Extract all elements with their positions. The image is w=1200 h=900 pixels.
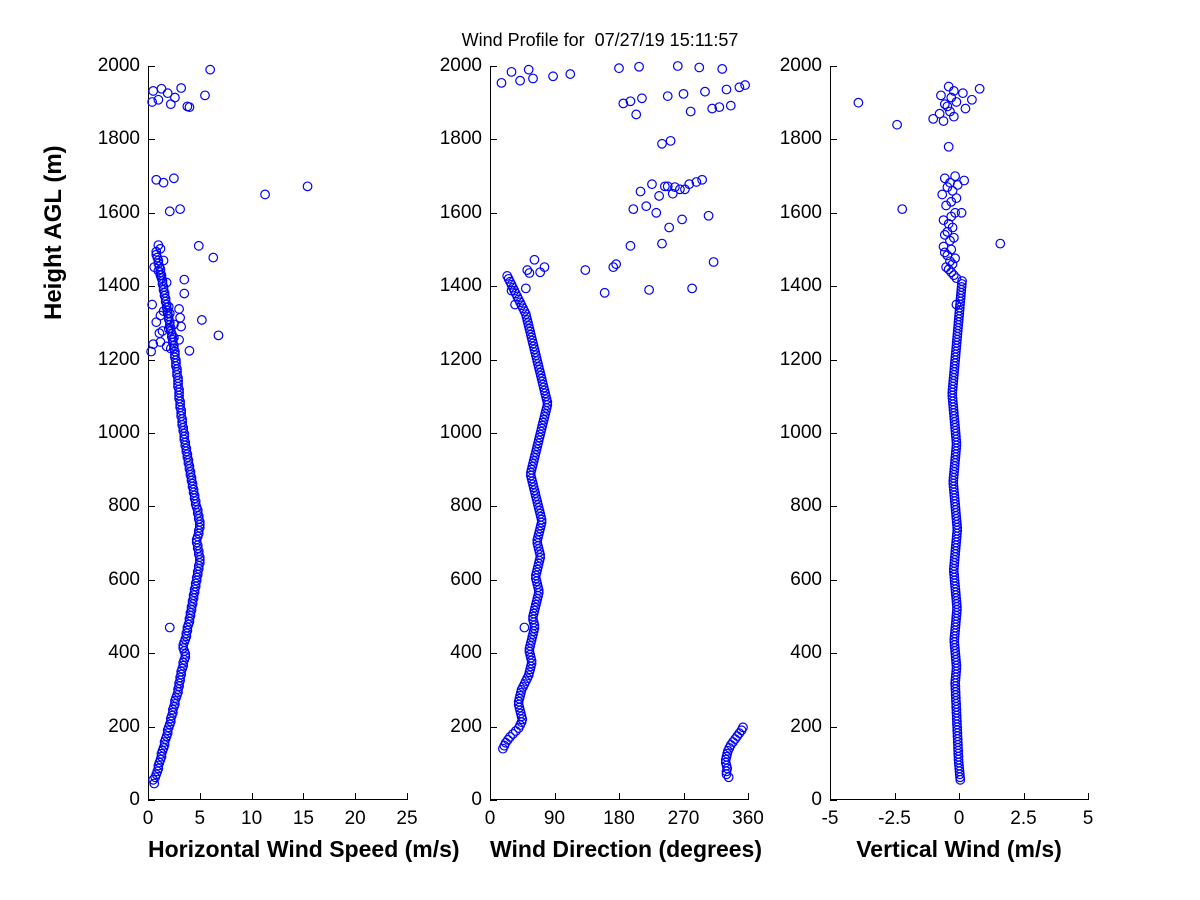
data-point-marker (516, 76, 525, 85)
data-point-marker (665, 223, 674, 232)
x-tick-label: 2.5 (1010, 808, 1036, 830)
y-tick-label: 1200 (440, 349, 482, 371)
data-point-marker (166, 100, 175, 109)
scatter-series-wind-direction (490, 66, 748, 800)
data-point-marker (520, 623, 529, 632)
data-point-marker (937, 91, 946, 100)
data-point-marker (157, 84, 166, 93)
data-point-marker (718, 65, 727, 74)
x-tick-label: 5 (1083, 808, 1094, 830)
data-point-marker (960, 176, 969, 185)
data-point-marker (206, 65, 215, 74)
x-axis-label-wind-direction: Wind Direction (degrees) (490, 836, 748, 863)
y-tick-label: 600 (108, 569, 140, 591)
data-point-marker (968, 95, 977, 104)
data-point-marker (194, 242, 203, 251)
data-point-marker (679, 90, 688, 99)
y-tick-label: 800 (450, 495, 482, 517)
x-tick-label: 0 (485, 808, 496, 830)
data-point-marker (549, 72, 558, 81)
y-axis-label: Height AGL (m) (40, 60, 68, 320)
data-point-marker (522, 284, 531, 293)
panel-horizontal-wind-speed: 0200400600800100012001400160018002000051… (148, 66, 407, 800)
data-point-marker (941, 174, 950, 183)
data-point-marker (733, 732, 742, 741)
data-point-marker (935, 109, 944, 118)
y-tick-label: 400 (790, 642, 822, 664)
y-tick-mark (830, 800, 837, 801)
data-point-marker (961, 104, 970, 113)
data-point-marker (943, 102, 952, 111)
y-tick-label: 1600 (440, 202, 482, 224)
data-point-marker (165, 207, 174, 216)
y-tick-label: 1800 (98, 128, 140, 150)
data-point-marker (198, 316, 207, 325)
x-tick-label: 25 (396, 808, 417, 830)
data-point-marker (165, 623, 174, 632)
data-point-marker (686, 107, 695, 116)
data-point-marker (975, 84, 984, 93)
data-point-marker (658, 140, 667, 149)
data-point-marker (741, 81, 750, 90)
y-tick-label: 1200 (98, 349, 140, 371)
data-point-marker (497, 79, 506, 88)
data-point-marker (648, 180, 657, 189)
y-tick-mark (490, 800, 497, 801)
y-tick-label: 1600 (98, 202, 140, 224)
y-tick-label: 0 (471, 789, 482, 811)
panel-wind-direction: 0200400600800100012001400160018002000090… (490, 66, 748, 800)
y-tick-label: 800 (108, 495, 140, 517)
data-point-marker (655, 192, 664, 201)
x-tick-label: 90 (544, 808, 565, 830)
data-point-marker (529, 74, 538, 83)
y-tick-label: 400 (108, 642, 140, 664)
data-point-marker (201, 91, 210, 100)
x-tick-label: 10 (241, 808, 262, 830)
y-tick-label: 2000 (98, 55, 140, 77)
data-point-marker (303, 182, 312, 191)
x-tick-label: 0 (954, 808, 965, 830)
y-tick-label: 1800 (780, 128, 822, 150)
data-point-marker (673, 62, 682, 71)
data-point-marker (615, 64, 624, 73)
data-point-marker (175, 305, 184, 314)
data-point-marker (148, 300, 157, 309)
y-tick-label: 1200 (780, 349, 822, 371)
y-tick-label: 1000 (780, 422, 822, 444)
data-point-marker (951, 172, 960, 181)
data-point-marker (523, 266, 532, 275)
data-point-marker (735, 83, 744, 92)
data-point-marker (695, 63, 704, 72)
x-axis-label-vertical-wind: Vertical Wind (m/s) (830, 836, 1088, 863)
data-point-marker (666, 137, 675, 146)
data-point-marker (704, 211, 713, 220)
data-point-marker (180, 275, 189, 284)
data-point-marker (176, 205, 185, 214)
data-point-marker (645, 286, 654, 295)
data-point-marker (185, 346, 194, 355)
y-tick-label: 400 (450, 642, 482, 664)
x-tick-label: 0 (143, 808, 154, 830)
x-tick-label: 5 (195, 808, 206, 830)
data-point-marker (731, 735, 740, 744)
data-point-marker (261, 190, 270, 199)
data-point-marker (530, 255, 539, 264)
data-point-marker (854, 98, 863, 107)
data-point-marker (941, 100, 950, 109)
y-tick-label: 1800 (440, 128, 482, 150)
scatter-series-horizontal-wind-speed (148, 66, 407, 800)
data-point-marker (636, 187, 645, 196)
data-point-marker (642, 202, 651, 211)
y-tick-label: 200 (108, 716, 140, 738)
data-point-marker (722, 85, 731, 94)
data-point-marker (152, 175, 161, 184)
data-point-marker (701, 87, 710, 96)
data-point-marker (638, 94, 647, 103)
y-tick-label: 1400 (98, 275, 140, 297)
data-point-marker (635, 62, 644, 71)
data-point-marker (626, 242, 635, 251)
y-tick-label: 1000 (98, 422, 140, 444)
data-point-marker (629, 205, 638, 214)
data-point-marker (525, 269, 534, 278)
data-point-marker (893, 120, 902, 129)
y-tick-label: 1000 (440, 422, 482, 444)
x-tick-label: -2.5 (878, 808, 911, 830)
y-tick-label: 1400 (780, 275, 822, 297)
data-point-marker (652, 209, 661, 218)
data-point-marker (944, 142, 953, 151)
data-point-marker (600, 289, 609, 298)
x-tick-label: 20 (345, 808, 366, 830)
data-point-marker (658, 239, 667, 248)
data-point-marker (957, 209, 966, 218)
data-point-marker (727, 101, 736, 110)
y-tick-label: 200 (450, 716, 482, 738)
data-point-marker (149, 87, 158, 96)
data-point-marker (959, 89, 968, 98)
x-tick-label: 180 (603, 808, 635, 830)
y-tick-label: 2000 (780, 55, 822, 77)
y-tick-label: 0 (811, 789, 822, 811)
y-tick-label: 0 (129, 789, 140, 811)
data-point-marker (688, 284, 697, 293)
data-point-marker (566, 70, 575, 79)
y-tick-label: 200 (790, 716, 822, 738)
y-tick-label: 600 (450, 569, 482, 591)
panel-vertical-wind: 0200400600800100012001400160018002000-5-… (830, 66, 1088, 800)
data-point-marker (724, 773, 733, 782)
data-point-marker (507, 68, 516, 77)
data-point-marker (581, 266, 590, 275)
x-tick-label: 270 (668, 808, 700, 830)
data-point-marker (698, 175, 707, 184)
y-tick-label: 2000 (440, 55, 482, 77)
y-tick-mark (148, 800, 155, 801)
data-point-marker (996, 239, 1005, 248)
y-tick-label: 1400 (440, 275, 482, 297)
data-point-marker (152, 318, 161, 327)
wind-profile-figure: Wind Profile for 07/27/19 15:11:57 Heigh… (0, 0, 1200, 900)
data-point-marker (214, 331, 223, 340)
y-tick-label: 800 (790, 495, 822, 517)
data-point-marker (709, 258, 718, 267)
x-tick-label: -5 (822, 808, 839, 830)
data-point-marker (898, 205, 907, 214)
y-tick-label: 1600 (780, 202, 822, 224)
x-tick-mark (1088, 793, 1089, 800)
data-point-marker (663, 92, 672, 101)
data-point-marker (952, 98, 961, 107)
y-tick-label: 600 (790, 569, 822, 591)
data-point-marker (632, 110, 641, 119)
data-point-marker (180, 289, 189, 298)
data-point-marker (676, 185, 685, 194)
data-point-marker (170, 174, 179, 183)
data-point-marker (524, 65, 533, 74)
x-axis-label-horizontal-wind-speed: Horizontal Wind Speed (m/s) (148, 836, 407, 863)
data-point-marker (944, 82, 953, 91)
x-tick-label: 15 (293, 808, 314, 830)
x-tick-label: 360 (732, 808, 764, 830)
figure-title: Wind Profile for 07/27/19 15:11:57 (0, 30, 1200, 51)
x-tick-mark (748, 793, 749, 800)
data-point-marker (209, 253, 218, 262)
scatter-series-vertical-wind (830, 66, 1088, 800)
x-tick-mark (407, 793, 408, 800)
data-point-marker (678, 215, 687, 224)
data-point-marker (177, 84, 186, 93)
